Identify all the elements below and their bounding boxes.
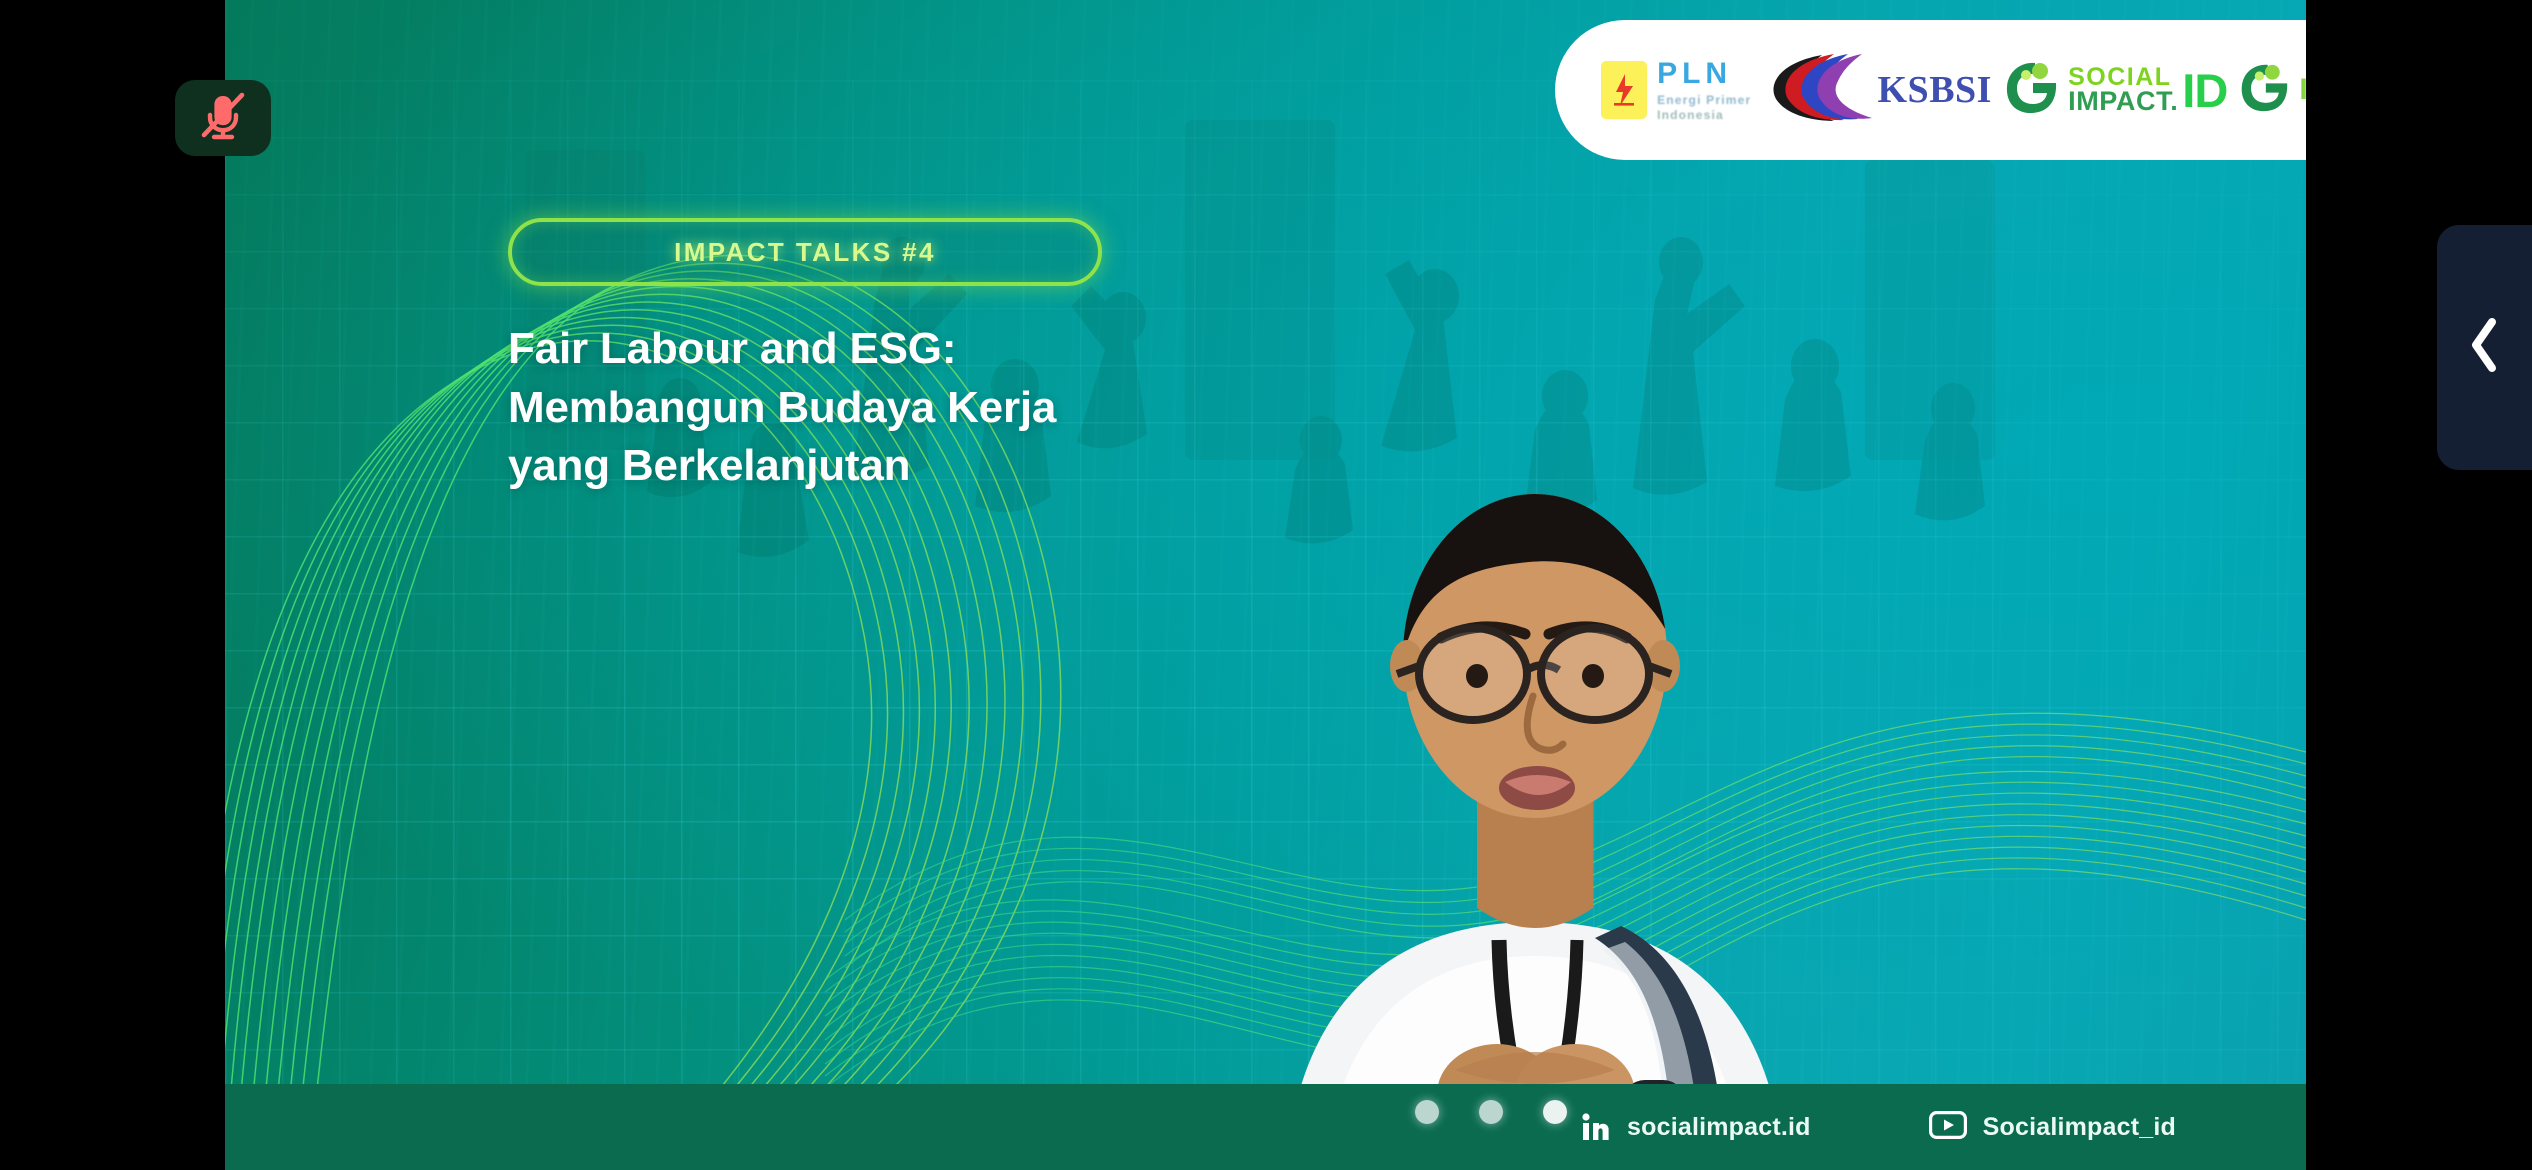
ksbsi-swoosh-icon: [1764, 51, 1884, 130]
pagination-dots[interactable]: [1415, 1100, 1567, 1124]
slide-footer: socialimpact.id Socialimpact_id: [225, 1084, 2306, 1170]
linkedin-icon: [1580, 1112, 1611, 1143]
sponsor-logo-bar: PLN Energi Primer Indonesia KSBSI: [1555, 20, 2306, 160]
slide-title-line-3: yang Berkelanjutan: [508, 437, 1508, 496]
slide-title: Fair Labour and ESG: Membangun Budaya Ke…: [508, 320, 1508, 496]
pagination-dot-1[interactable]: [1415, 1100, 1439, 1124]
session-badge: IMPACT TALKS #4: [508, 218, 1102, 286]
pln-subtitle-1: Energi Primer: [1657, 94, 1751, 106]
ksbsi-name: KSBSI: [1878, 68, 1992, 112]
logo-impact-talks: Impact Talks: [2239, 61, 2306, 120]
logo-ksbsi: KSBSI: [1764, 51, 1992, 130]
linkedin-handle: socialimpact.id: [1627, 1113, 1811, 1142]
session-badge-label: IMPACT TALKS #4: [674, 237, 936, 268]
video-call-screen: PLN Energi Primer Indonesia KSBSI: [0, 0, 2532, 1170]
youtube-handle-group: Socialimpact_id: [1929, 1111, 2176, 1144]
youtube-icon: [1929, 1111, 1967, 1144]
youtube-handle: Socialimpact_id: [1983, 1113, 2176, 1142]
panel-toggle-button[interactable]: [2437, 225, 2532, 470]
social-impact-word-id: ID: [2182, 63, 2227, 118]
social-impact-word-impact: IMPACT.: [2068, 89, 2178, 114]
impact-talks-leaf-icon: [2239, 61, 2289, 120]
slide-title-line-1: Fair Labour and ESG:: [508, 320, 1508, 379]
slide-title-line-2: Membangun Budaya Kerja: [508, 379, 1508, 438]
pagination-dot-2[interactable]: [1479, 1100, 1503, 1124]
mic-muted-badge[interactable]: [175, 80, 271, 156]
pagination-dot-3[interactable]: [1543, 1100, 1567, 1124]
pln-lightning-icon: [1601, 61, 1647, 119]
impact-talks-word-impact: Impact: [2299, 73, 2306, 107]
microphone-muted-icon: [196, 89, 250, 148]
speaker-video-subject: [1125, 470, 1945, 1170]
linkedin-handle-group: socialimpact.id: [1580, 1112, 1811, 1143]
logo-social-impact-id: SOCIAL IMPACT. ID: [2004, 59, 2227, 122]
chevron-left-icon: [2465, 312, 2505, 383]
pln-name: PLN: [1657, 59, 1751, 89]
logo-pln: PLN Energi Primer Indonesia: [1601, 59, 1751, 121]
pln-subtitle-2: Indonesia: [1657, 109, 1751, 121]
video-stage[interactable]: PLN Energi Primer Indonesia KSBSI: [225, 0, 2306, 1170]
social-impact-leaf-icon: [2004, 59, 2058, 122]
